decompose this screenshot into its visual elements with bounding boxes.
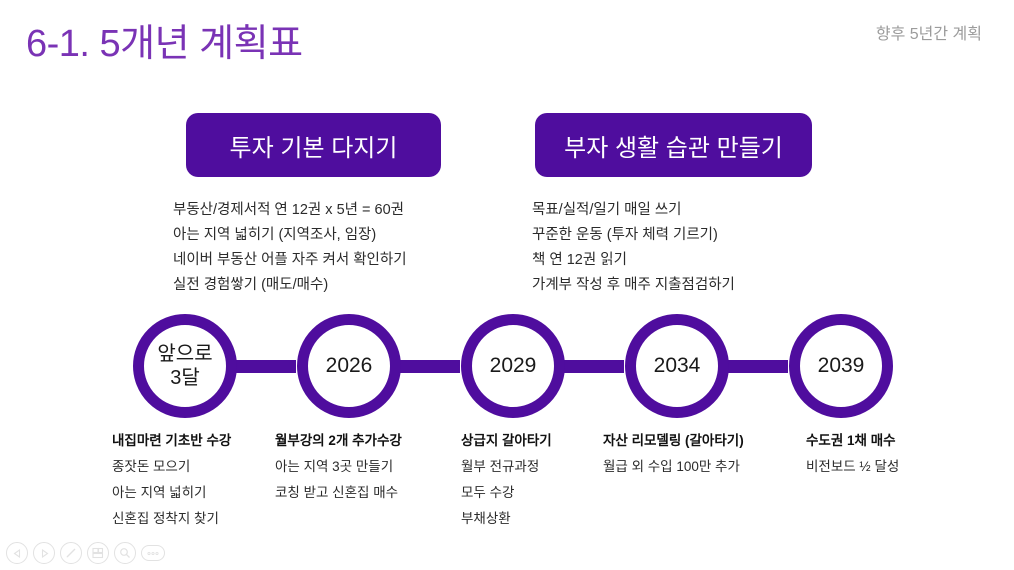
caption-heading: 상급지 갈아타기 [461, 428, 552, 454]
header-note: 향후 5년간 계획 [876, 20, 982, 44]
bullet-line: 가계부 작성 후 매주 지출점검하기 [532, 273, 735, 298]
timeline-connector [228, 360, 296, 373]
ellipsis-icon [146, 551, 160, 556]
presentation-slide: 6-1. 5개년 계획표 향후 5년간 계획 투자 기본 다지기 부자 생활 습… [0, 0, 1014, 570]
caption-line: 종잣돈 모으기 [112, 454, 231, 480]
bullet-line: 꾸준한 운동 (투자 체력 기르기) [532, 223, 735, 248]
zoom-button[interactable] [114, 542, 136, 564]
timeline-node-label: 2034 [654, 354, 701, 378]
pen-tool-button[interactable] [60, 542, 82, 564]
caption-line: 신혼집 정착지 찾기 [112, 506, 231, 532]
caption-line: 모두 수강 [461, 480, 552, 506]
timeline-node-label: 2029 [490, 354, 537, 378]
section-pill-0: 투자 기본 다지기 [186, 113, 441, 177]
caption-line: 월부 전규과정 [461, 454, 552, 480]
timeline-node-1: 2026 [297, 314, 401, 418]
triangle-left-icon [13, 549, 22, 558]
bullet-line: 책 연 12권 읽기 [532, 248, 735, 273]
bullet-line: 네이버 부동산 어플 자주 켜서 확인하기 [173, 248, 407, 273]
timeline-node-4: 2039 [789, 314, 893, 418]
timeline: 앞으로3달 2026 2029 2034 2039 [0, 312, 1014, 422]
grid-icon [92, 547, 104, 559]
viewer-toolbar [6, 542, 165, 564]
pen-icon [65, 547, 77, 559]
caption-heading: 월부강의 2개 추가수강 [275, 428, 402, 454]
caption-heading: 내집마련 기초반 수강 [112, 428, 231, 454]
timeline-caption-3: 자산 리모델링 (갈아타기) 월급 외 수입 100만 추가 [603, 428, 744, 480]
timeline-caption-0: 내집마련 기초반 수강 종잣돈 모으기 아는 지역 넓히기 신혼집 정착지 찾기 [112, 428, 231, 532]
page-title: 6-1. 5개년 계획표 [26, 12, 303, 67]
bullet-line: 실전 경험쌓기 (매도/매수) [173, 273, 407, 298]
bullet-line: 아는 지역 넓히기 (지역조사, 임장) [173, 223, 407, 248]
more-options-button[interactable] [141, 545, 165, 561]
caption-line: 아는 지역 3곳 만들기 [275, 454, 402, 480]
bullet-line: 부동산/경제서적 연 12권 x 5년 = 60권 [173, 198, 407, 223]
caption-line: 아는 지역 넓히기 [112, 480, 231, 506]
caption-heading: 수도권 1채 매수 [806, 428, 899, 454]
timeline-connector [392, 360, 460, 373]
timeline-caption-2: 상급지 갈아타기 월부 전규과정 모두 수강 부채상환 [461, 428, 552, 532]
timeline-node-3: 2034 [625, 314, 729, 418]
timeline-connector [720, 360, 788, 373]
caption-line: 코칭 받고 신혼집 매수 [275, 480, 402, 506]
slide-overview-button[interactable] [87, 542, 109, 564]
caption-line: 비전보드 ½ 달성 [806, 454, 899, 480]
timeline-node-0: 앞으로3달 [133, 314, 237, 418]
timeline-node-2: 2029 [461, 314, 565, 418]
triangle-right-icon [40, 549, 49, 558]
caption-heading: 자산 리모델링 (갈아타기) [603, 428, 744, 454]
caption-line: 부채상환 [461, 506, 552, 532]
section-bullets-1: 목표/실적/일기 매일 쓰기 꾸준한 운동 (투자 체력 기르기) 책 연 12… [532, 198, 735, 298]
section-pill-1: 부자 생활 습관 만들기 [535, 113, 812, 177]
previous-slide-button[interactable] [6, 542, 28, 564]
timeline-caption-4: 수도권 1채 매수 비전보드 ½ 달성 [806, 428, 899, 480]
timeline-connector [556, 360, 624, 373]
timeline-node-label: 2039 [818, 354, 865, 378]
timeline-node-label: 2026 [326, 354, 373, 378]
timeline-caption-1: 월부강의 2개 추가수강 아는 지역 3곳 만들기 코칭 받고 신혼집 매수 [275, 428, 402, 506]
next-slide-button[interactable] [33, 542, 55, 564]
section-bullets-0: 부동산/경제서적 연 12권 x 5년 = 60권 아는 지역 넓히기 (지역조… [173, 198, 407, 298]
timeline-node-label: 앞으로3달 [156, 342, 214, 390]
magnifier-icon [119, 547, 131, 559]
bullet-line: 목표/실적/일기 매일 쓰기 [532, 198, 735, 223]
caption-line: 월급 외 수입 100만 추가 [603, 454, 744, 480]
